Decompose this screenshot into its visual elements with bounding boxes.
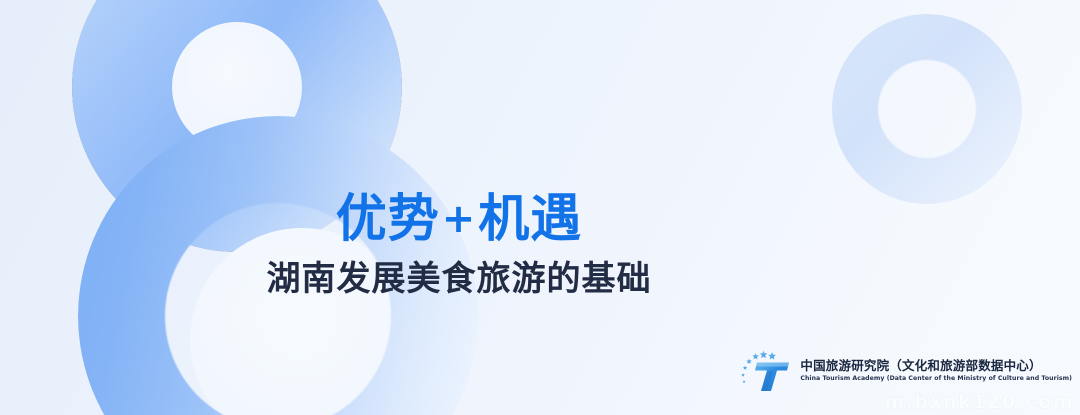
page-title: 优势+机遇 — [0, 192, 918, 248]
china-tourism-academy-logo-icon — [737, 349, 793, 393]
title-plus-symbol: + — [440, 196, 479, 242]
site-watermark: m.bxnk120.com — [884, 391, 1074, 413]
logo-letter-t — [755, 363, 789, 392]
logo-text-block: 中国旅游研究院（文化和旅游部数据中心） China Tourism Academ… — [800, 360, 1072, 382]
logo-name-en: China Tourism Academy (Data Center of th… — [800, 376, 1072, 382]
page-subtitle: 湖南发展美食旅游的基础 — [0, 260, 918, 299]
top-right-ring-decoration — [832, 14, 1022, 204]
headline-block: 优势+机遇 湖南发展美食旅游的基础 — [0, 192, 1080, 299]
upper-left-ring-hole-glow — [172, 22, 302, 152]
title-left-text: 优势 — [336, 190, 440, 249]
title-right-text: 机遇 — [478, 190, 582, 249]
slide-canvas: 优势+机遇 湖南发展美食旅游的基础 — [0, 0, 1080, 415]
top-right-ring-fill — [832, 14, 1022, 204]
logo-name-cn: 中国旅游研究院（文化和旅游部数据中心） — [800, 360, 1072, 373]
organization-logo: 中国旅游研究院（文化和旅游部数据中心） China Tourism Academ… — [737, 349, 1072, 393]
